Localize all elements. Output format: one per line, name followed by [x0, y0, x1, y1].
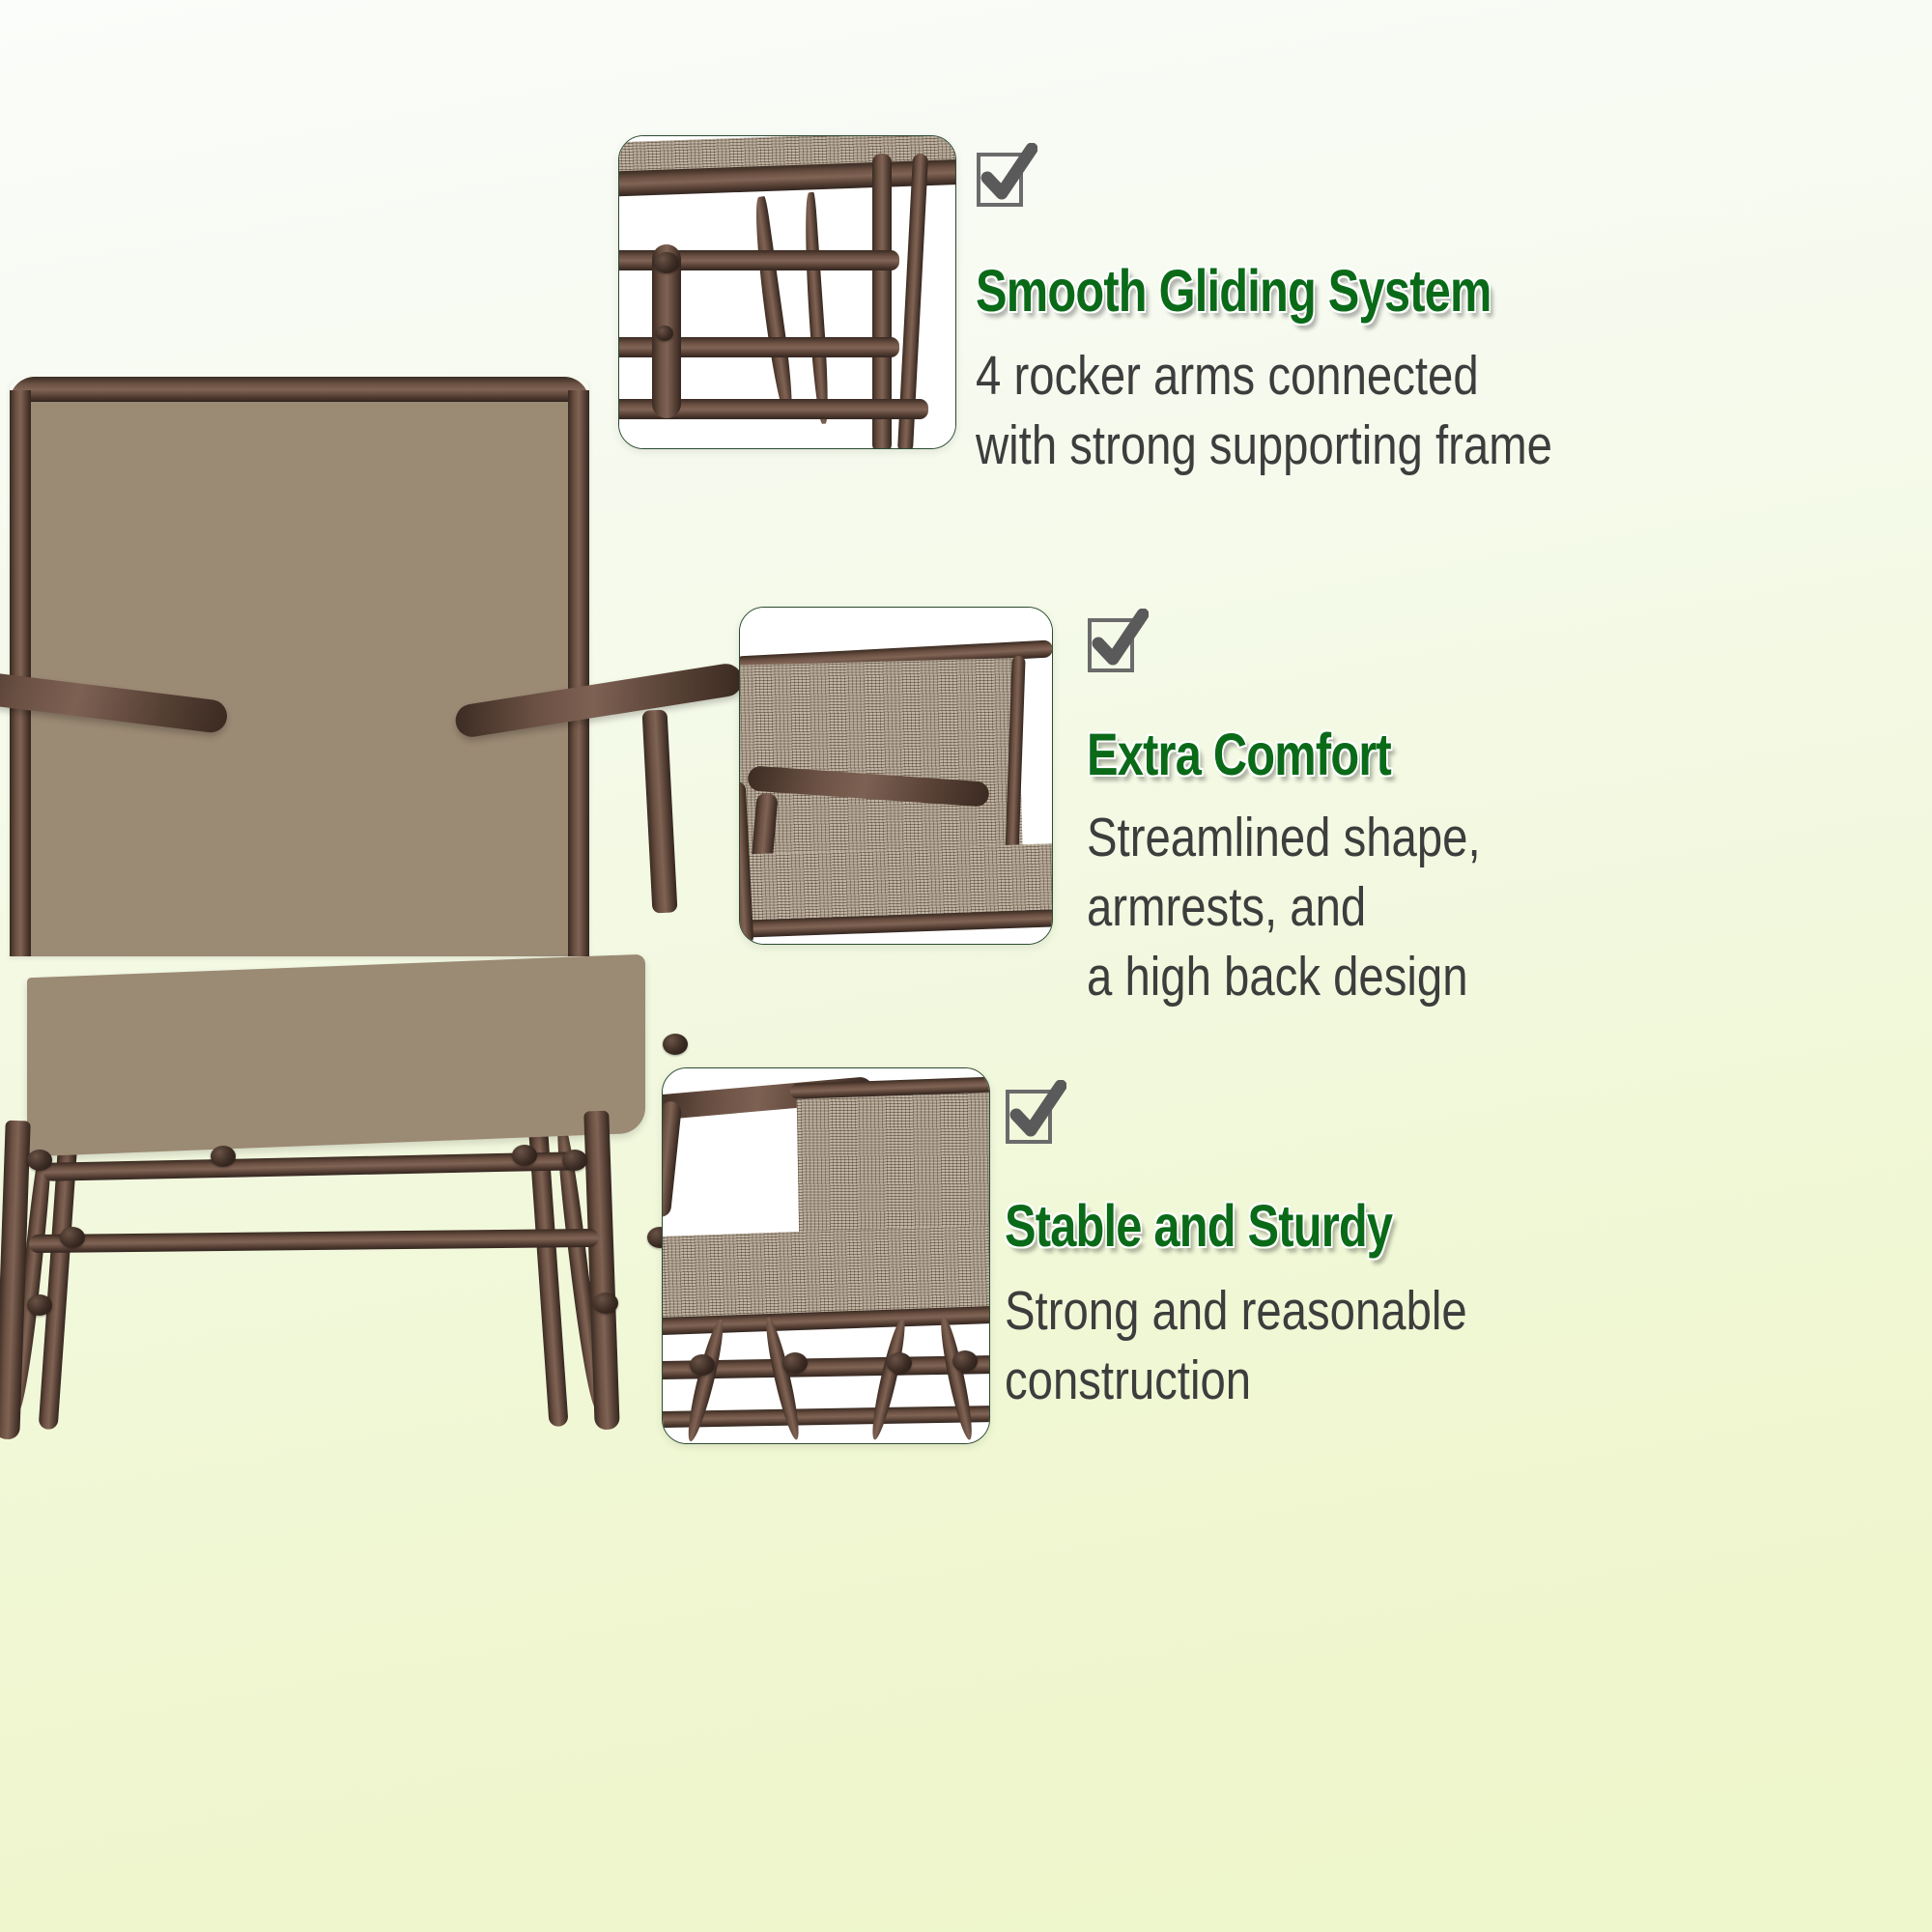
feature-title: Stable and Sturdy: [1005, 1196, 1731, 1256]
feature-body: Strong and reasonable construction: [1005, 1277, 1758, 1416]
base-cross-rail: [662, 1406, 990, 1428]
feature-body-line: Strong and reasonable: [1005, 1277, 1758, 1347]
feature-body-line: construction: [1005, 1347, 1758, 1416]
frame-bolt: [952, 1350, 978, 1372]
feature-photo-stable-and-sturdy: [662, 1067, 990, 1444]
frame-bolt: [887, 1352, 912, 1374]
checkbox-checked-icon: [1005, 1080, 1913, 1146]
frame-bolt: [690, 1354, 715, 1376]
frame-bolt: [782, 1352, 808, 1374]
feature-text-stable-and-sturdy: Stable and Sturdy Strong and reasonable …: [1005, 1080, 1913, 1416]
photo-scene: [663, 1068, 989, 1443]
armrest-post: [662, 1100, 682, 1218]
infographic-page: Smooth Gliding System 4 rocker arms conn…: [0, 0, 1932, 1932]
feature-block-stable-and-sturdy: Stable and Sturdy Strong and reasonable …: [0, 0, 1932, 1739]
